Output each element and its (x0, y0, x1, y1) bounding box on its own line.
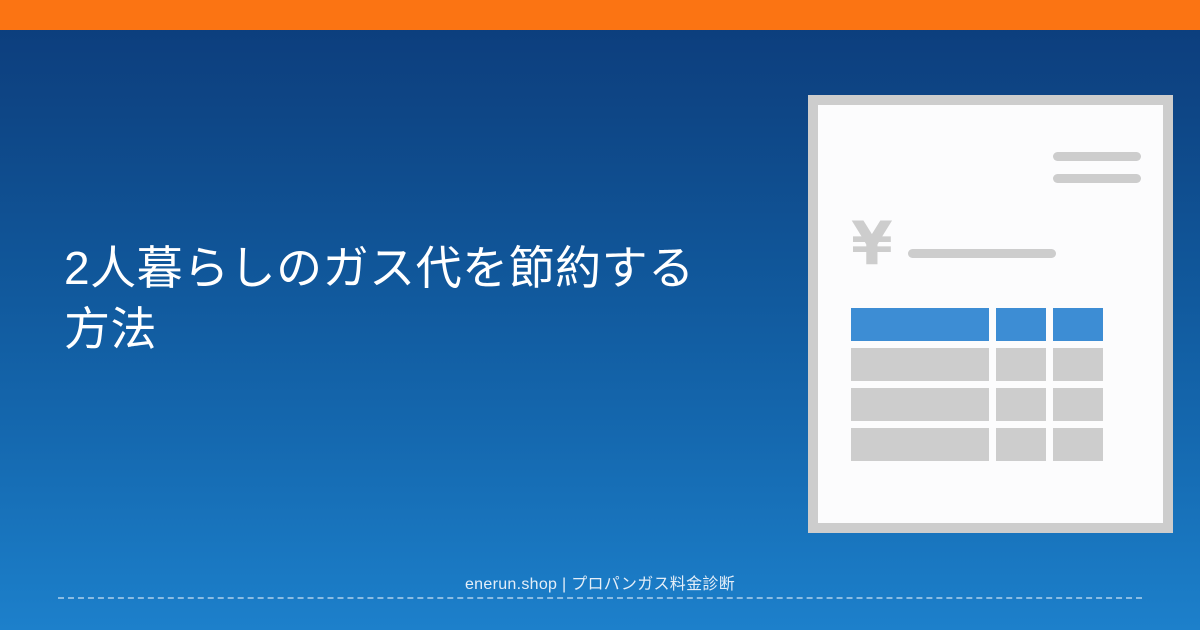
table-cell (851, 428, 989, 461)
footer-branding: enerun.shop | プロパンガス料金診断 (0, 570, 1200, 594)
table-cell (996, 388, 1046, 421)
table-cell (1053, 388, 1103, 421)
table-row (851, 428, 1109, 461)
table-header-cell (851, 308, 989, 341)
amount-row: ¥ (851, 218, 1141, 276)
table-cell (851, 388, 989, 421)
amount-placeholder-bar (908, 249, 1056, 258)
table-header-row (851, 308, 1109, 341)
og-image-canvas: 2人暮らしのガス代を節約する方法 ¥ (0, 0, 1200, 630)
table-row (851, 388, 1109, 421)
table-cell (1053, 428, 1103, 461)
yen-symbol-icon: ¥ (851, 218, 893, 274)
table-header-cell (996, 308, 1046, 341)
table-cell (996, 348, 1046, 381)
document-header-rule-1-icon (1053, 152, 1141, 161)
billing-table (851, 308, 1109, 461)
table-cell (996, 428, 1046, 461)
table-cell (1053, 348, 1103, 381)
document-header-rule-2-icon (1053, 174, 1141, 183)
page-title: 2人暮らしのガス代を節約する方法 (64, 238, 724, 359)
table-cell (851, 348, 989, 381)
gas-bill-document-card: ¥ (808, 95, 1173, 533)
table-row (851, 348, 1109, 381)
table-header-cell (1053, 308, 1103, 341)
top-accent-bar (0, 0, 1200, 30)
document-page: ¥ (818, 105, 1163, 523)
footer-divider (58, 597, 1142, 599)
